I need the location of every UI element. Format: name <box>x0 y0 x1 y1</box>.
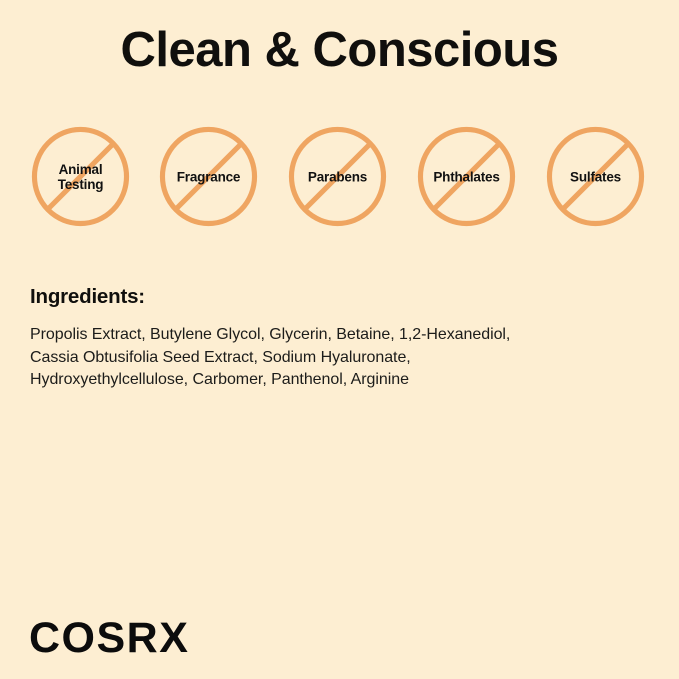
badge-sulfates: Sulfates <box>546 126 645 227</box>
badge-fragrance: Fragrance <box>159 126 258 227</box>
badge-label: Sulfates <box>570 169 621 184</box>
badge-label: Phthalates <box>433 169 499 184</box>
badge-animal-testing: Animal Testing <box>31 126 130 227</box>
ingredients-list: Propolis Extract, Butylene Glycol, Glyce… <box>30 324 655 392</box>
badge-label: Parabens <box>308 169 367 184</box>
ingredients-heading: Ingredients: <box>30 285 145 309</box>
brand-logo: COSRX <box>29 617 189 660</box>
free-from-badge-row: Animal Testing Fragrance Parabens Phthal… <box>31 126 648 228</box>
badge-parabens: Parabens <box>288 126 387 227</box>
product-info-card: Clean & Conscious Animal Testing Fragran… <box>0 0 679 679</box>
badge-label: Animal Testing <box>58 162 104 192</box>
badge-label: Fragrance <box>177 169 240 184</box>
ingredients-line: Hydroxyethylcellulose, Carbomer, Panthen… <box>30 369 655 392</box>
badge-phthalates: Phthalates <box>417 126 516 227</box>
ingredients-line: Cassia Obtusifolia Seed Extract, Sodium … <box>30 347 655 370</box>
page-title: Clean & Conscious <box>0 22 679 78</box>
ingredients-line: Propolis Extract, Butylene Glycol, Glyce… <box>30 324 655 347</box>
